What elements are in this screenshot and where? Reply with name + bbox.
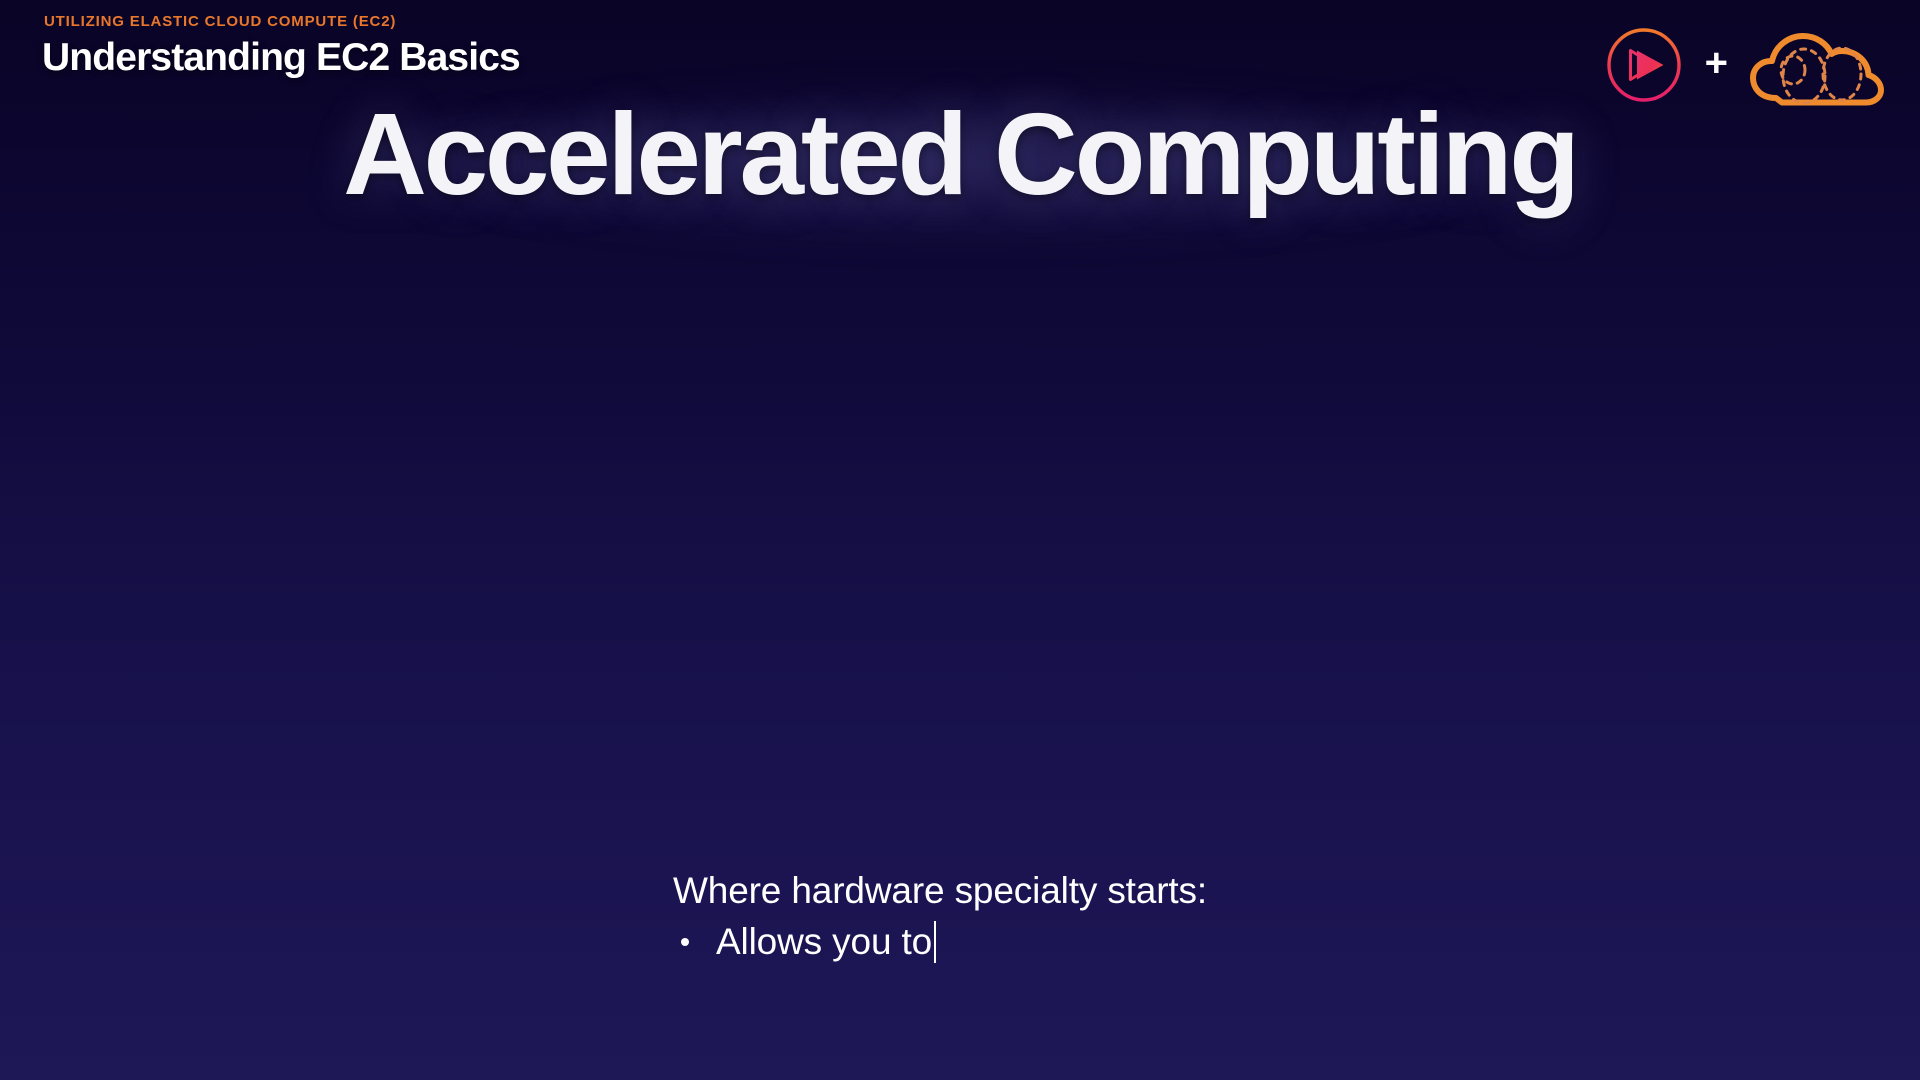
bullet-item-text: Allows you to: [716, 919, 932, 966]
slide-eyebrow-label: UTILIZING ELASTIC CLOUD COMPUTE (EC2): [44, 14, 520, 29]
list-item: Allows you to: [673, 919, 1207, 966]
slide-header-title: Understanding EC2 Basics: [42, 38, 520, 77]
body-lead-text: Where hardware specialty starts:: [673, 868, 1207, 915]
plus-separator-icon: +: [1705, 43, 1728, 87]
main-slide-title: Accelerated Computing: [0, 96, 1920, 212]
slide-body-content: Where hardware specialty starts: Allows …: [673, 868, 1207, 965]
body-bullet-list: Allows you to: [673, 919, 1207, 966]
text-caret: [934, 921, 936, 963]
slide-header: UTILIZING ELASTIC CLOUD COMPUTE (EC2) Un…: [42, 14, 520, 77]
play-arrow-circle-logo: [1603, 24, 1685, 106]
brand-logo-group: +: [1603, 22, 1886, 108]
presentation-slide: UTILIZING ELASTIC CLOUD COMPUTE (EC2) Un…: [0, 0, 1920, 1080]
aws-cloud-outline-logo: [1748, 22, 1886, 108]
bullet-dot-icon: [681, 938, 689, 946]
